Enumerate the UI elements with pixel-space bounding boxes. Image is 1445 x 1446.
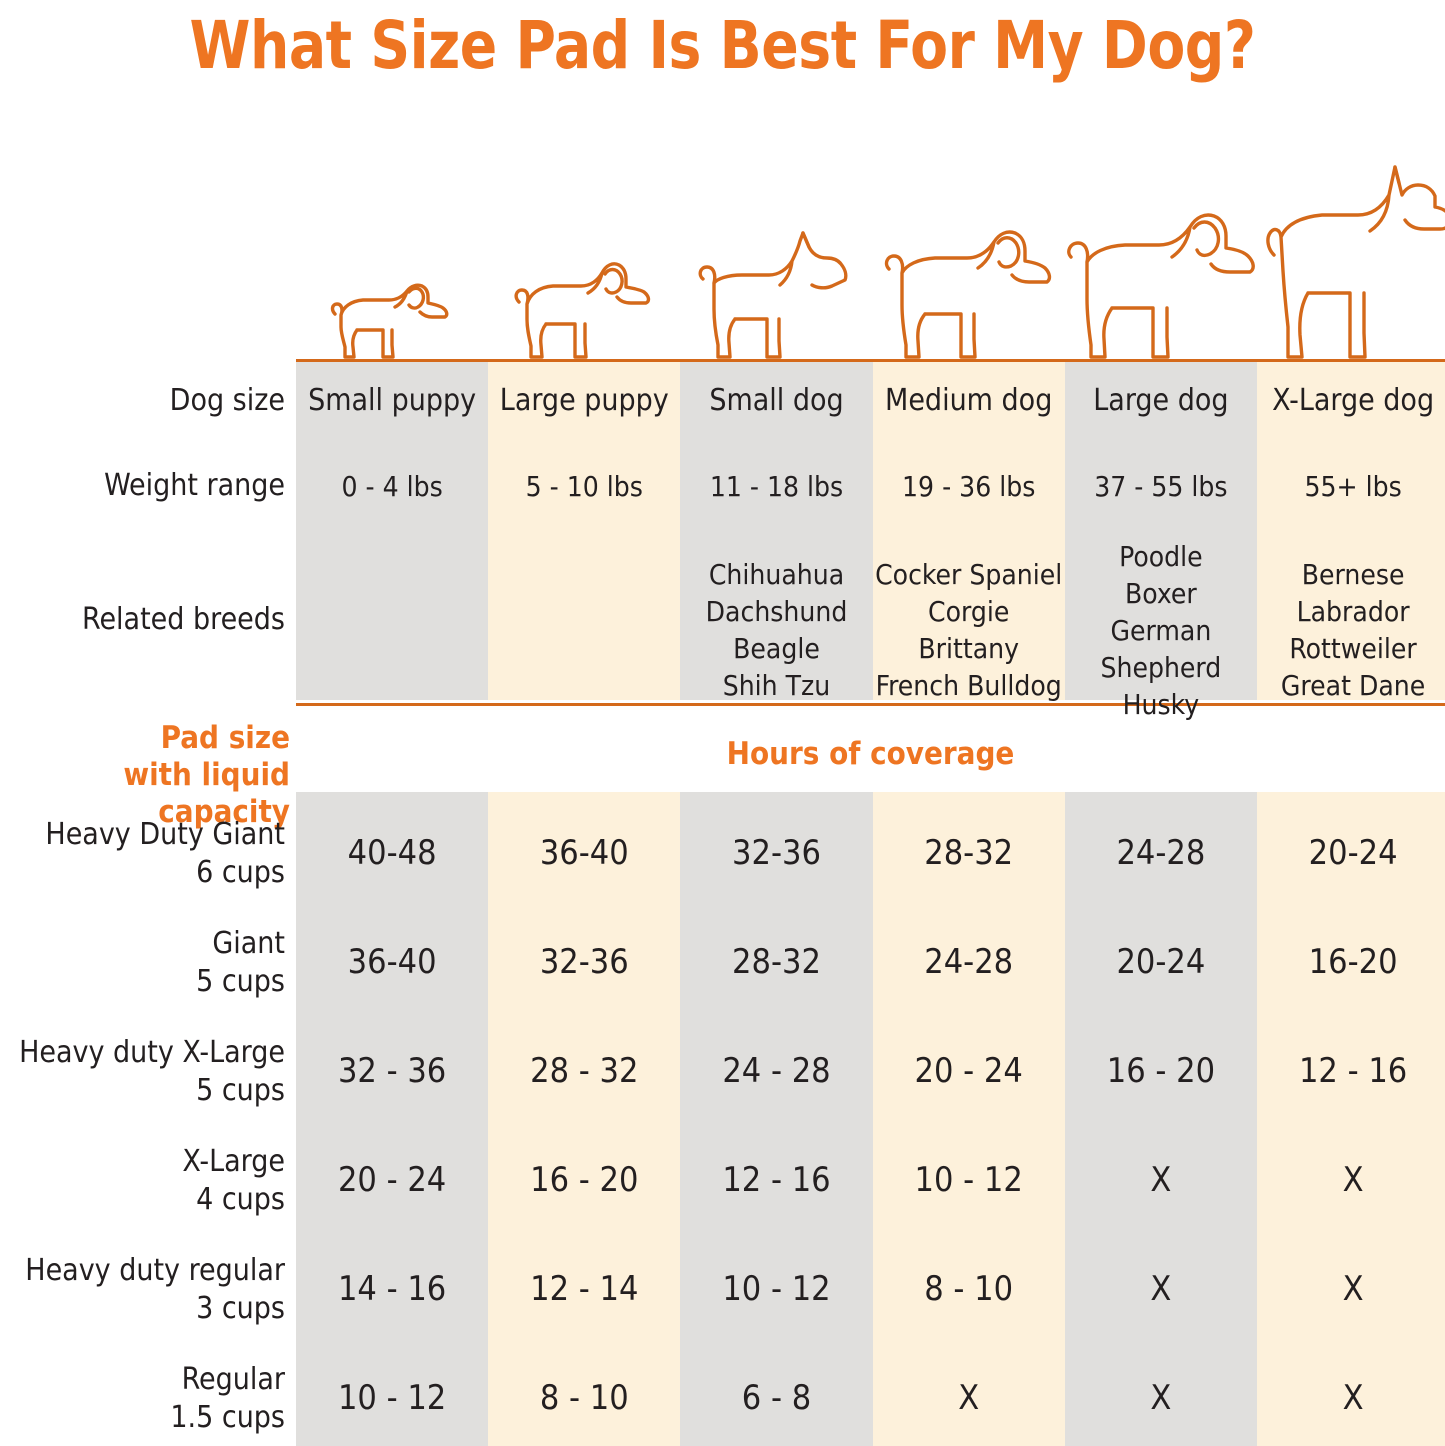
cell-weight_range-xlarge_dog: 55+ lbs (1257, 468, 1445, 506)
dog-silhouette-row (296, 150, 1445, 359)
row-label-dog_size: Dog size (0, 382, 285, 420)
pad-row-label-5: Regular 1.5 cups (0, 1361, 285, 1437)
column-band-large_dog (1065, 792, 1257, 1446)
row-label-weight_range: Weight range (0, 467, 285, 505)
small-dog-silhouette-icon (680, 231, 872, 359)
coverage-cell-r2-large_dog: 16 - 20 (1065, 1052, 1257, 1090)
pad-size-heading: Pad size with liquid capacity (0, 720, 290, 831)
xlarge-dog-silhouette-icon (1256, 163, 1445, 359)
coverage-cell-r0-small_dog: 32-36 (680, 834, 872, 872)
large-puppy-silhouette-icon (488, 247, 680, 359)
pad-row-label-4: Heavy duty regular 3 cups (0, 1252, 285, 1328)
coverage-cell-r4-large_dog: X (1065, 1270, 1257, 1308)
coverage-cell-r2-xlarge_dog: 12 - 16 (1257, 1052, 1445, 1090)
cell-related_breeds-medium_dog: Cocker Spaniel Corgie Brittany French Bu… (873, 556, 1065, 704)
coverage-cell-r5-small_dog: 6 - 8 (680, 1379, 872, 1417)
row-label-related_breeds: Related breeds (0, 601, 285, 639)
column-band-medium_dog (873, 792, 1065, 1446)
coverage-cell-r4-small_dog: 10 - 12 (680, 1270, 872, 1308)
coverage-cell-r3-xlarge_dog: X (1257, 1161, 1445, 1199)
coverage-cell-r4-xlarge_dog: X (1257, 1270, 1445, 1308)
small-puppy-silhouette-icon (296, 267, 488, 359)
coverage-cell-r3-small_puppy: 20 - 24 (296, 1161, 488, 1199)
coverage-cell-r0-medium_dog: 28-32 (873, 834, 1065, 872)
medium-dog-silhouette-icon (872, 217, 1064, 359)
coverage-cell-r1-small_dog: 28-32 (680, 943, 872, 981)
cell-dog_size-xlarge_dog: X-Large dog (1257, 382, 1445, 420)
coverage-cell-r4-medium_dog: 8 - 10 (873, 1270, 1065, 1308)
coverage-cell-r5-small_puppy: 10 - 12 (296, 1379, 488, 1417)
size-chart-infographic: What Size Pad Is Best For My Dog? (0, 0, 1445, 1446)
cell-related_breeds-small_dog: Chihuahua Dachshund Beagle Shih Tzu (680, 556, 872, 704)
pad-row-label-0: Heavy Duty Giant 6 cups (0, 816, 285, 892)
coverage-cell-r1-small_puppy: 36-40 (296, 943, 488, 981)
pad-row-label-2: Heavy duty X-Large 5 cups (0, 1034, 285, 1110)
cell-related_breeds-large_dog: Poodle Boxer German Shepherd Husky (1065, 538, 1257, 723)
hours-of-coverage-heading: Hours of coverage (296, 736, 1445, 773)
cell-weight_range-small_dog: 11 - 18 lbs (680, 468, 872, 506)
pad-row-label-3: X-Large 4 cups (0, 1143, 285, 1219)
column-band-small_puppy (296, 792, 488, 1446)
cell-weight_range-medium_dog: 19 - 36 lbs (873, 468, 1065, 506)
cell-weight_range-large_puppy: 5 - 10 lbs (488, 468, 680, 506)
coverage-cell-r0-large_dog: 24-28 (1065, 834, 1257, 872)
orange-rule-top (296, 359, 1445, 362)
coverage-cell-r3-large_puppy: 16 - 20 (488, 1161, 680, 1199)
coverage-cell-r3-medium_dog: 10 - 12 (873, 1161, 1065, 1199)
coverage-cell-r0-large_puppy: 36-40 (488, 834, 680, 872)
cell-dog_size-small_dog: Small dog (680, 382, 872, 420)
cell-weight_range-small_puppy: 0 - 4 lbs (296, 468, 488, 506)
coverage-cell-r0-xlarge_dog: 20-24 (1257, 834, 1445, 872)
coverage-cell-r2-medium_dog: 20 - 24 (873, 1052, 1065, 1090)
coverage-cell-r4-large_puppy: 12 - 14 (488, 1270, 680, 1308)
page-title: What Size Pad Is Best For My Dog? (51, 4, 1395, 88)
cell-dog_size-large_dog: Large dog (1065, 382, 1257, 420)
coverage-cell-r1-xlarge_dog: 16-20 (1257, 943, 1445, 981)
large-dog-silhouette-icon (1064, 201, 1256, 359)
coverage-cell-r0-small_puppy: 40-48 (296, 834, 488, 872)
coverage-cell-r1-large_dog: 20-24 (1065, 943, 1257, 981)
cell-related_breeds-xlarge_dog: Bernese Labrador Rottweiler Great Dane (1257, 556, 1445, 704)
coverage-cell-r5-large_puppy: 8 - 10 (488, 1379, 680, 1417)
cell-dog_size-medium_dog: Medium dog (873, 382, 1065, 420)
coverage-cell-r3-large_dog: X (1065, 1161, 1257, 1199)
coverage-cell-r3-small_dog: 12 - 16 (680, 1161, 872, 1199)
pad-row-label-1: Giant 5 cups (0, 925, 285, 1001)
coverage-cell-r1-medium_dog: 24-28 (873, 943, 1065, 981)
coverage-cell-r2-small_puppy: 32 - 36 (296, 1052, 488, 1090)
coverage-cell-r2-small_dog: 24 - 28 (680, 1052, 872, 1090)
coverage-cell-r5-large_dog: X (1065, 1379, 1257, 1417)
column-band-small_dog (680, 792, 872, 1446)
coverage-cell-r4-small_puppy: 14 - 16 (296, 1270, 488, 1308)
cell-weight_range-large_dog: 37 - 55 lbs (1065, 468, 1257, 506)
coverage-cell-r5-xlarge_dog: X (1257, 1379, 1445, 1417)
column-band-xlarge_dog (1257, 792, 1445, 1446)
coverage-cell-r1-large_puppy: 32-36 (488, 943, 680, 981)
coverage-cell-r2-large_puppy: 28 - 32 (488, 1052, 680, 1090)
column-band-large_puppy (488, 792, 680, 1446)
cell-dog_size-large_puppy: Large puppy (488, 382, 680, 420)
cell-dog_size-small_puppy: Small puppy (296, 382, 488, 420)
coverage-cell-r5-medium_dog: X (873, 1379, 1065, 1417)
